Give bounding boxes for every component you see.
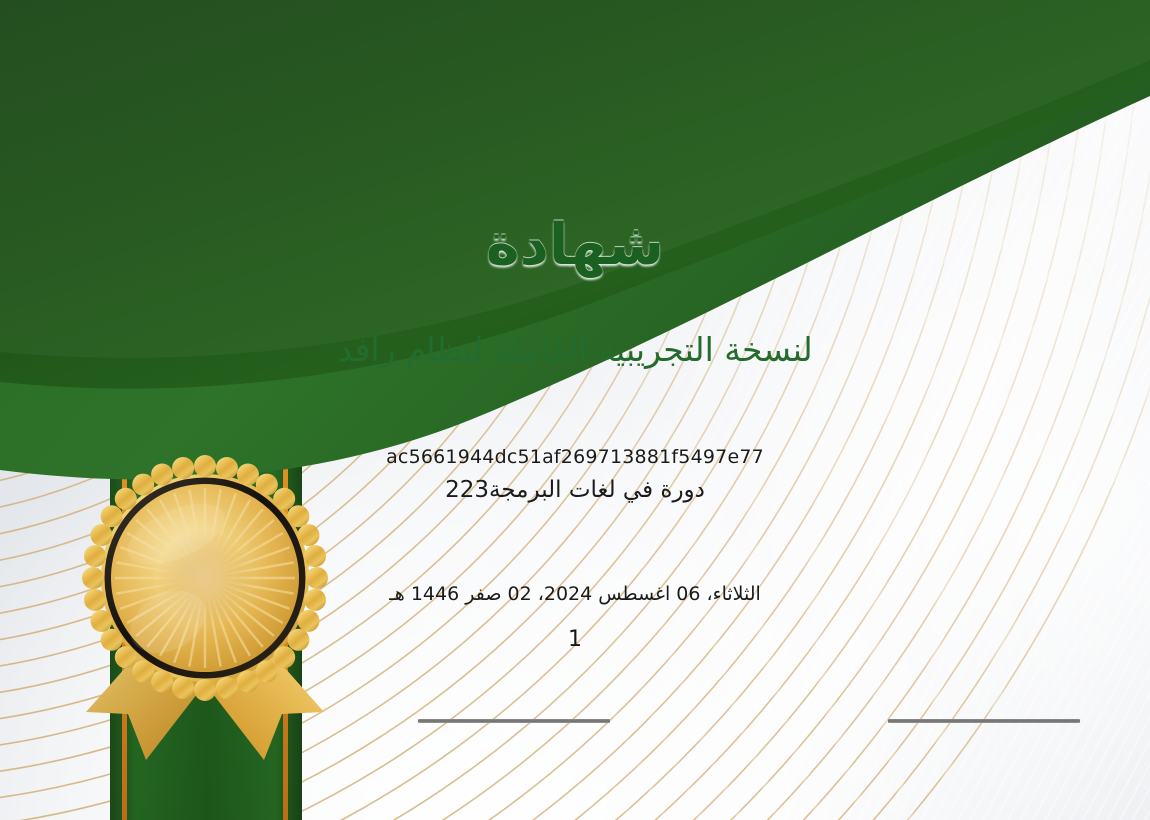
certificate-course-name: دورة في لغات البرمجة223 bbox=[165, 477, 985, 503]
signature-line-left bbox=[418, 719, 610, 723]
signature-line-right bbox=[888, 719, 1080, 723]
certificate-title: شهادة bbox=[195, 212, 955, 278]
certificate-number: 1 bbox=[165, 627, 985, 652]
certificate-page: شهادة لنسخة التجريبية الكاملة لنظام رافد… bbox=[0, 0, 1150, 820]
certificate-hash: ac5661944dc51af269713881f5497e77 bbox=[165, 446, 985, 468]
certificate-date: الثلاثاء، 06 اغسطس 2024، 02 صفر 1446 هـ bbox=[145, 583, 1005, 605]
certificate-content: شهادة لنسخة التجريبية الكاملة لنظام رافد… bbox=[0, 0, 1150, 820]
certificate-subtitle: لنسخة التجريبية الكاملة لنظام رافد bbox=[145, 330, 1005, 369]
